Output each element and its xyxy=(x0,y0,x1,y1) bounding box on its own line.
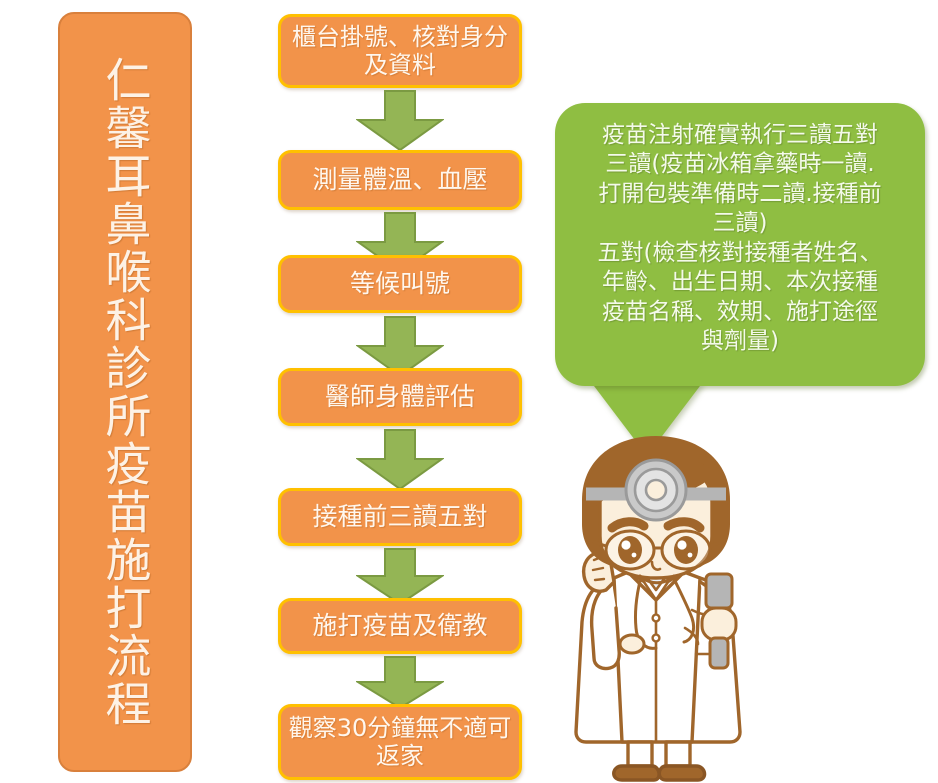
callout-line-7: 疫苗名稱、效期、施打途徑 xyxy=(563,298,917,327)
callout-line-8: 與劑量) xyxy=(563,327,917,356)
flow-step-5[interactable]: 接種前三讀五對 xyxy=(278,488,522,546)
flow-step-1[interactable]: 櫃台掛號、核對身分及資料 xyxy=(278,14,522,88)
flow-step-7[interactable]: 觀察30分鐘無不適可返家 xyxy=(278,704,522,780)
flow-step-4[interactable]: 醫師身體評估 xyxy=(278,368,522,426)
clinic-title-text: 仁馨耳鼻喉科診所疫苗施打流程 xyxy=(102,56,149,728)
doctor-illustration xyxy=(540,432,800,783)
callout-text: 疫苗注射確實執行三讀五對 三讀(疫苗冰箱拿藥時一讀. 打開包裝準備時二讀.接種前… xyxy=(563,121,917,357)
flow-step-2[interactable]: 測量體溫、血壓 xyxy=(278,150,522,210)
callout-line-4: 三讀) xyxy=(563,209,917,238)
callout-line-1: 疫苗注射確實執行三讀五對 xyxy=(563,121,917,150)
clinic-title-banner: 仁馨耳鼻喉科診所疫苗施打流程 xyxy=(58,12,192,772)
callout-body: 疫苗注射確實執行三讀五對 三讀(疫苗冰箱拿藥時一讀. 打開包裝準備時二讀.接種前… xyxy=(555,103,925,386)
callout-line-2: 三讀(疫苗冰箱拿藥時一讀. xyxy=(563,150,917,179)
process-flow-column: 櫃台掛號、核對身分及資料 測量體溫、血壓 等候叫號 醫師身體評估 接種前三讀五對 xyxy=(278,10,522,775)
flow-step-6[interactable]: 施打疫苗及衛教 xyxy=(278,598,522,654)
flowchart-canvas: 仁馨耳鼻喉科診所疫苗施打流程 櫃台掛號、核對身分及資料 測量體溫、血壓 等候叫號… xyxy=(0,0,938,783)
flow-arrow-4 xyxy=(356,429,444,491)
vaccine-safety-callout: 疫苗注射確實執行三讀五對 三讀(疫苗冰箱拿藥時一讀. 打開包裝準備時二讀.接種前… xyxy=(551,99,929,399)
flow-arrow-1 xyxy=(356,90,444,152)
callout-line-6: 年齡、出生日期、本次接種 xyxy=(563,268,917,297)
flow-step-3[interactable]: 等候叫號 xyxy=(278,255,522,313)
callout-line-5: 五對(檢查核對接種者姓名、 xyxy=(563,239,917,268)
callout-line-3: 打開包裝準備時二讀.接種前 xyxy=(563,180,917,209)
flow-arrow-6 xyxy=(356,656,444,710)
